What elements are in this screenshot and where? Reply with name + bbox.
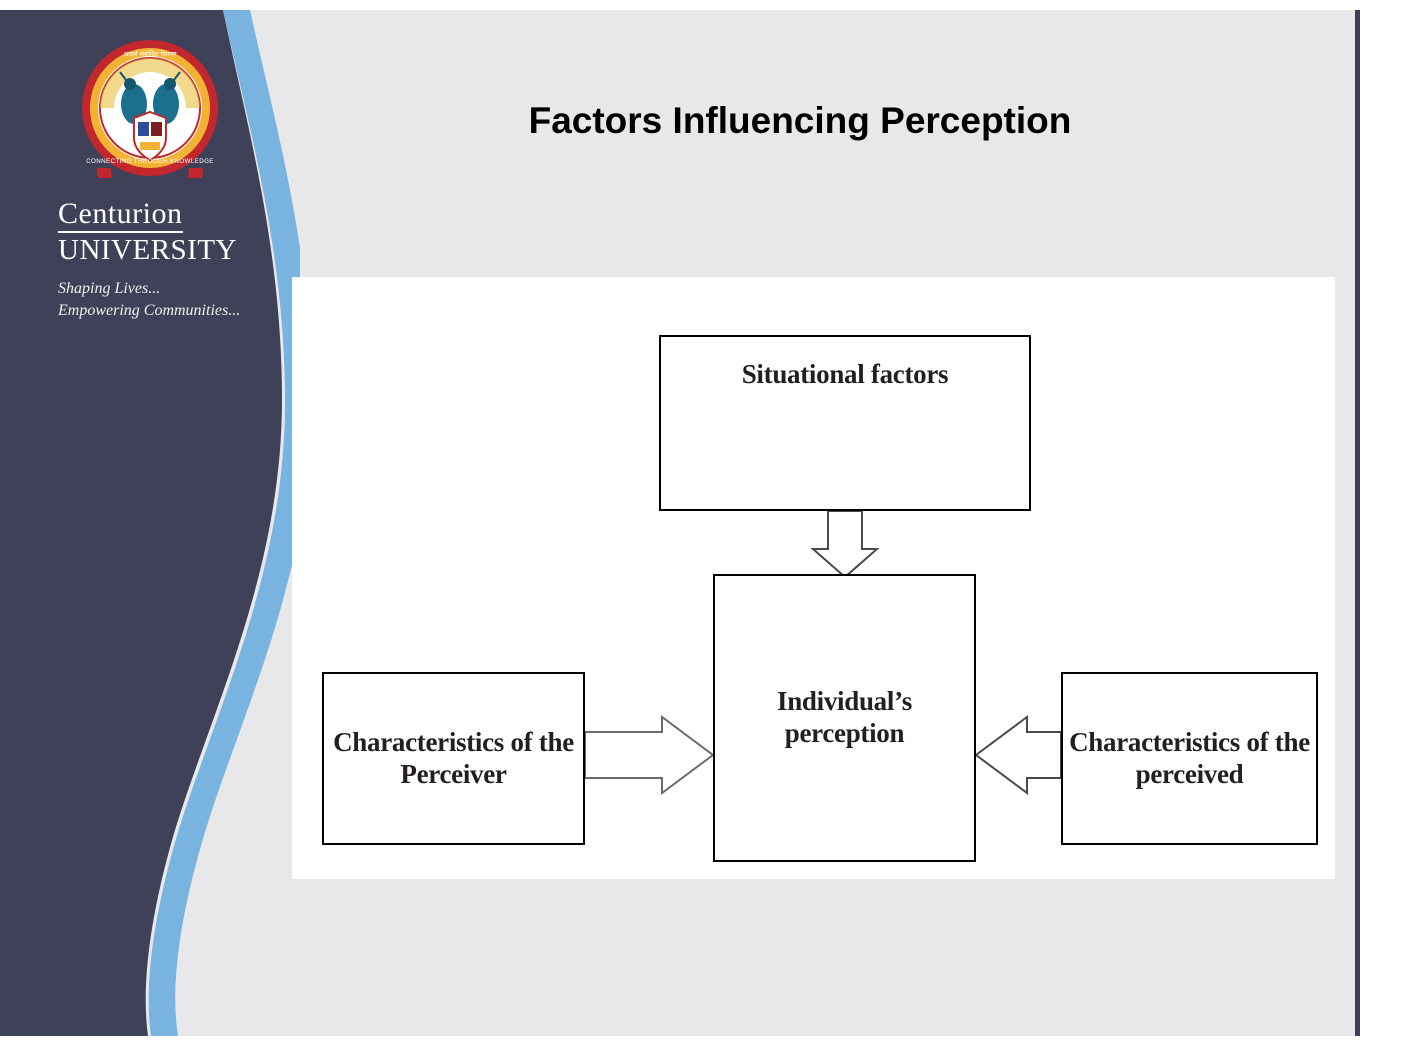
- slide-margin-top: [0, 0, 1411, 10]
- content-area: Situational factors Individual’s percept…: [292, 277, 1335, 879]
- brand-name-university: UNIVERSITY: [58, 235, 268, 267]
- arrow-perceived-to-perception: [976, 717, 1061, 793]
- node-characteristics-of-perceiver-label: Characteristics of the Perceiver: [327, 727, 580, 791]
- node-individuals-perception-line2: perception: [785, 718, 905, 748]
- slide-margin-right: [1360, 0, 1411, 1058]
- university-crest-icon: CONNECTING THROUGH KNOWLEDGE आदर्श संबोध…: [80, 38, 220, 178]
- crest-sanskrit-text: आदर्श संबोधित वितरण: [123, 50, 177, 58]
- slide: CONNECTING THROUGH KNOWLEDGE आदर्श संबोध…: [0, 0, 1411, 1058]
- slide-margin-bottom: [0, 1036, 1411, 1058]
- brand-name-centurion: Centurion: [58, 198, 183, 233]
- node-perceived-line1: Characteristics of the: [1069, 727, 1310, 757]
- brand-text: Centurion UNIVERSITY Shaping Lives... Em…: [58, 198, 268, 322]
- node-characteristics-of-perceived: Characteristics of the perceived: [1061, 672, 1318, 845]
- node-characteristics-of-perceiver: Characteristics of the Perceiver: [322, 672, 585, 845]
- brand-tagline: Shaping Lives... Empowering Communities.…: [58, 278, 268, 321]
- arrow-situational-to-perception: [813, 511, 877, 577]
- node-situational-factors: Situational factors: [659, 335, 1031, 511]
- node-characteristics-of-perceived-label: Characteristics of the perceived: [1063, 727, 1316, 791]
- brand-tagline-line1: Shaping Lives...: [58, 278, 268, 300]
- university-logo: CONNECTING THROUGH KNOWLEDGE आदर्श संबोध…: [58, 38, 258, 298]
- node-individuals-perception-line1: Individual’s: [777, 686, 912, 716]
- node-situational-factors-label: Situational factors: [736, 359, 955, 391]
- node-perceiver-line2: Perceiver: [400, 759, 506, 789]
- perception-diagram: Situational factors Individual’s percept…: [292, 277, 1335, 879]
- page-title: Factors Influencing Perception: [300, 100, 1300, 142]
- crest-motto-text: CONNECTING THROUGH KNOWLEDGE: [86, 158, 214, 165]
- arrow-perceiver-to-perception: [585, 717, 713, 793]
- node-individuals-perception: Individual’s perception: [713, 574, 976, 862]
- node-perceiver-line1: Characteristics of the: [333, 727, 574, 757]
- node-perceived-line2: perceived: [1136, 759, 1244, 789]
- brand-tagline-line2: Empowering Communities...: [58, 300, 268, 322]
- right-vertical-rule: [1355, 10, 1360, 1036]
- node-individuals-perception-label: Individual’s perception: [771, 686, 918, 750]
